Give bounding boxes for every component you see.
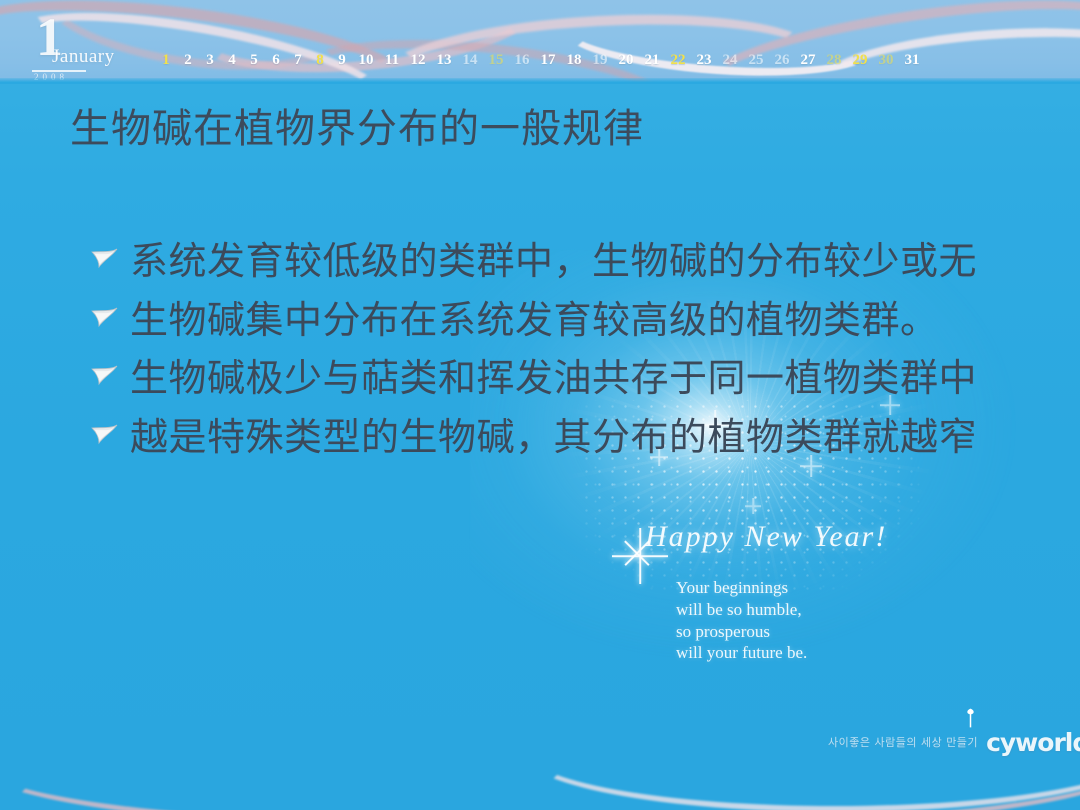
calendar-day: 31 [899,52,925,69]
calendar-day: 16 [509,52,535,69]
calendar-day: 7 [287,52,309,69]
calendar-day: 20 [613,52,639,69]
calendar-day: 1 [155,52,177,69]
feather-bullet-icon [90,412,130,448]
slide-title: 生物碱在植物界分布的一般规律 [70,104,1010,154]
bullet-item-text: 系统发育较低级的类群中，生物碱的分布较少或无 [130,236,1020,287]
calendar-day: 17 [535,52,561,69]
bullet-item: 系统发育较低级的类群中，生物碱的分布较少或无 [90,236,1020,287]
feather-bullet-icon [90,236,130,272]
calendar-day: 24 [717,52,743,69]
calendar-day: 11 [379,52,405,69]
calendar-day: 27 [795,52,821,69]
header-wave-stroke [378,5,823,84]
footer-caption: 사이좋은 사람들의 세상 만들기 [828,734,978,750]
calendar-day: 10 [353,52,379,69]
feather-bullet-icon [90,295,130,331]
cyworld-logo: cyworld [986,730,1080,755]
header-bottom-edge [0,78,1080,84]
calendar-day: 19 [587,52,613,69]
calendar-day: 2 [177,52,199,69]
calendar-day: 15 [483,52,509,69]
bullet-item: 生物碱集中分布在系统发育较高级的植物类群。 [90,295,1020,346]
calendar-day: 12 [405,52,431,69]
calendar-day-strip: 1234567891011121314151617181920212223242… [155,48,835,72]
month-name-label: January [52,46,115,68]
calendar-day: 4 [221,52,243,69]
calendar-header-banner: 1 2008 January 1234567891011121314151617… [0,0,1080,84]
calendar-day: 21 [639,52,665,69]
bullet-item: 越是特殊类型的生物碱，其分布的植物类群就越窄 [90,412,1020,463]
calendar-day: 26 [769,52,795,69]
feather-bullet-icon [90,353,130,389]
bullet-item-text: 生物碱集中分布在系统发育较高级的植物类群。 [130,295,1020,346]
bullet-list: 系统发育较低级的类群中，生物碱的分布较少或无生物碱集中分布在系统发育较高级的植物… [90,236,1020,470]
calendar-day: 18 [561,52,587,69]
calendar-day: 22 [665,52,691,69]
footer-brand: 사이좋은 사람들의 세상 만들기 cyworld [828,722,1080,762]
bullet-item-text: 越是特殊类型的生物碱，其分布的植物类群就越窄 [130,412,1020,463]
bullet-item-text: 生物碱极少与萜类和挥发油共存于同一植物类群中 [130,353,1020,404]
calendar-day: 14 [457,52,483,69]
calendar-day: 23 [691,52,717,69]
bullet-item: 生物碱极少与萜类和挥发油共存于同一植物类群中 [90,353,1020,404]
calendar-day: 28 [821,52,847,69]
calendar-day: 8 [309,52,331,69]
calendar-day: 29 [847,52,873,69]
calendar-day: 30 [873,52,899,69]
calendar-day: 6 [265,52,287,69]
calendar-day: 13 [431,52,457,69]
presentation-slide: 1 2008 January 1234567891011121314151617… [0,0,1080,810]
calendar-day: 9 [331,52,353,69]
calendar-day: 25 [743,52,769,69]
calendar-day: 5 [243,52,265,69]
calendar-day: 3 [199,52,221,69]
